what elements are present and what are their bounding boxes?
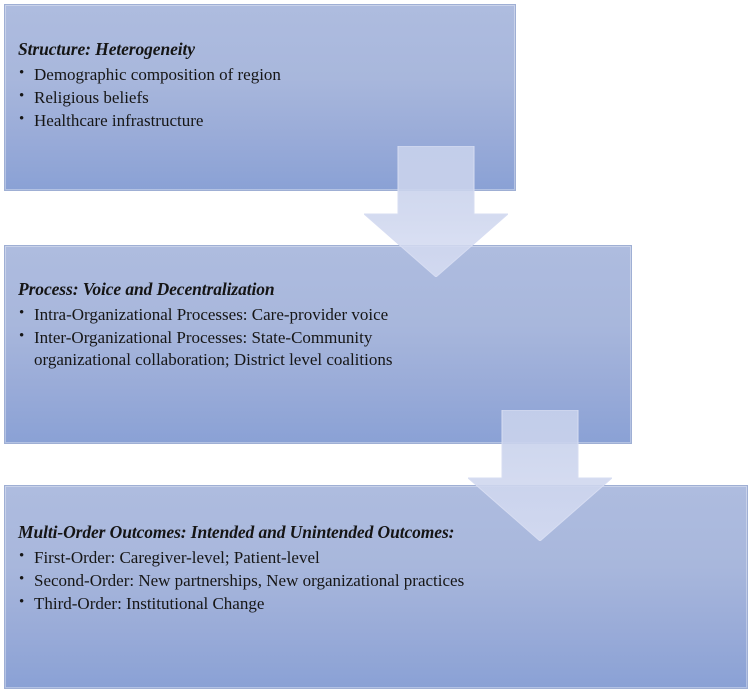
- bullet-list-outcomes: First-Order: Caregiver-level; Patient-le…: [18, 547, 718, 615]
- stage-heading-outcomes: Multi-Order Outcomes: Intended and Unint…: [18, 521, 718, 544]
- stage-heading-structure: Structure: Heterogeneity: [18, 38, 488, 61]
- list-item: Second-Order: New partnerships, New orga…: [18, 570, 502, 592]
- list-item: Healthcare infrastructure: [18, 110, 488, 132]
- stage-content-outcomes: Multi-Order Outcomes: Intended and Unint…: [18, 521, 718, 616]
- stage-content-structure: Structure: Heterogeneity Demographic com…: [18, 38, 488, 133]
- down-arrow-icon-process-to-outcomes: [468, 410, 612, 541]
- list-item: Demographic composition of region: [18, 64, 488, 86]
- list-item: Religious beliefs: [18, 87, 488, 109]
- bullet-list-process: Intra-Organizational Processes: Care-pro…: [18, 304, 608, 371]
- list-item: Intra-Organizational Processes: Care-pro…: [18, 304, 608, 326]
- bullet-list-structure: Demographic composition of region Religi…: [18, 64, 488, 132]
- list-item: Inter-Organizational Processes: State-Co…: [18, 327, 464, 371]
- flow-diagram: Structure: Heterogeneity Demographic com…: [0, 0, 756, 696]
- stage-heading-process: Process: Voice and Decentralization: [18, 278, 608, 301]
- stage-content-process: Process: Voice and Decentralization Intr…: [18, 278, 608, 372]
- list-item: First-Order: Caregiver-level; Patient-le…: [18, 547, 718, 569]
- down-arrow-icon-structure-to-process: [364, 146, 508, 277]
- list-item: Third-Order: Institutional Change: [18, 593, 718, 615]
